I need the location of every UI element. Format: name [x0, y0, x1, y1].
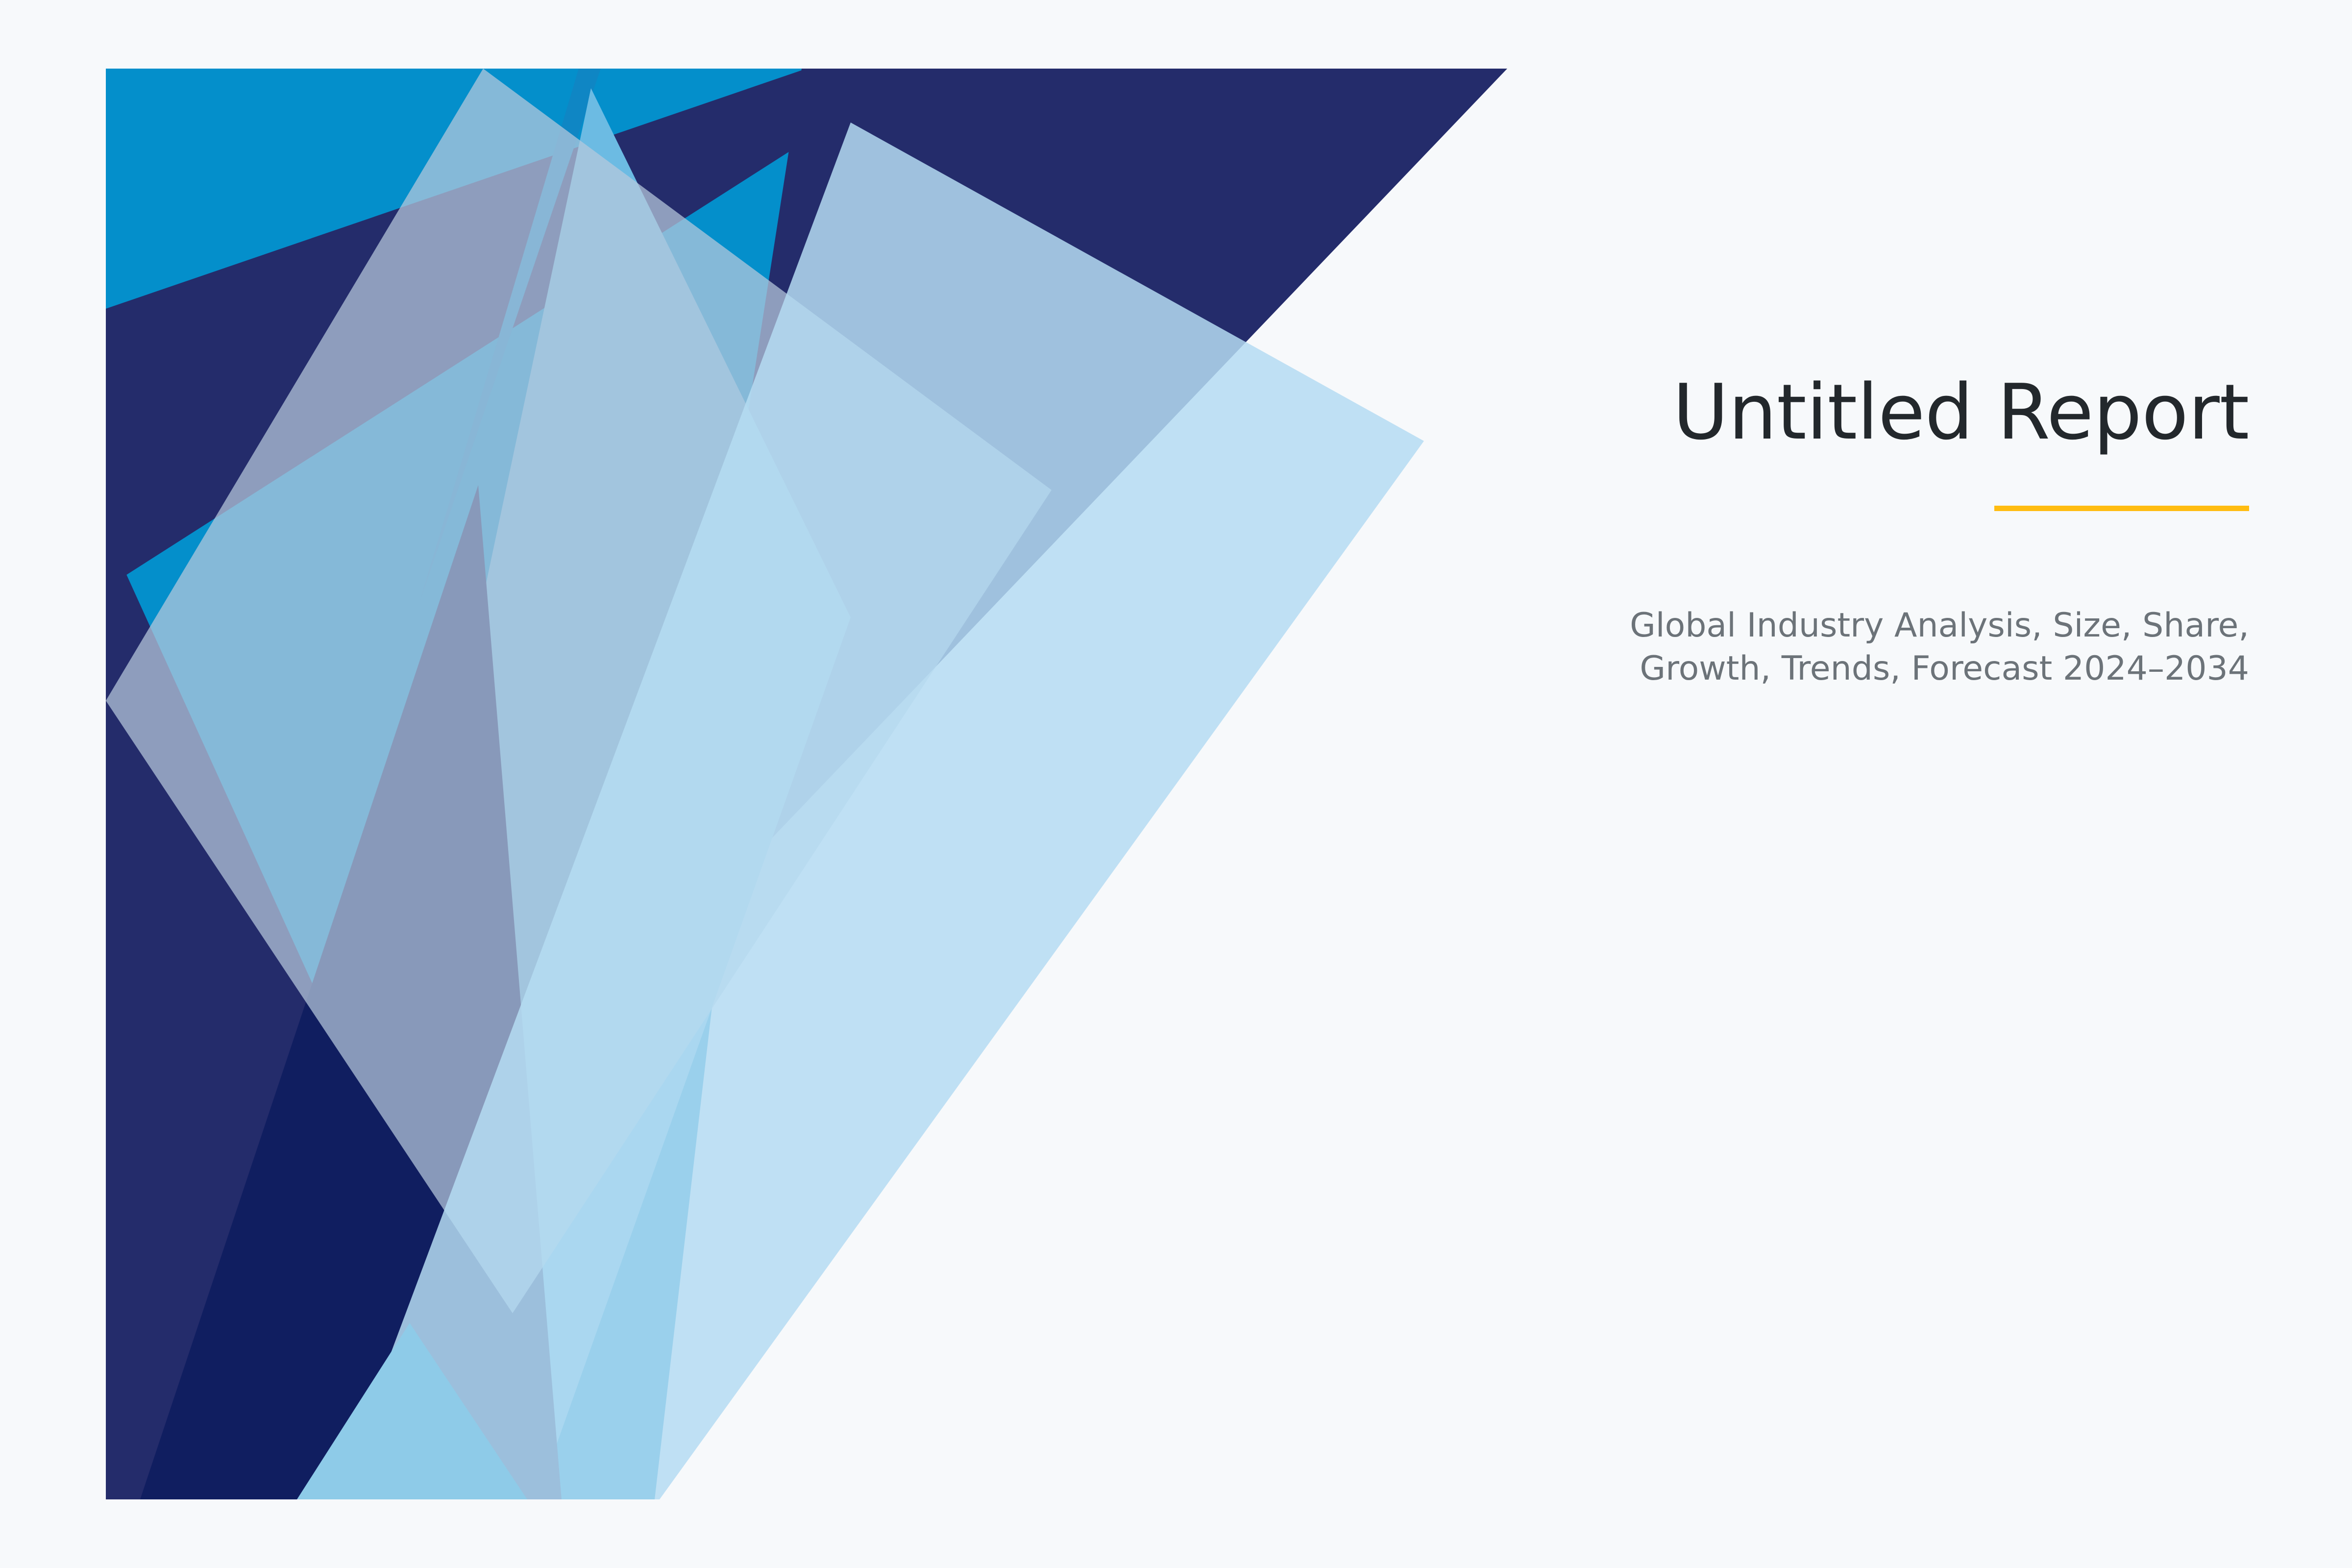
- cover-artwork-svg: [106, 69, 1507, 1499]
- page-subtitle: Global Industry Analysis, Size, Share, G…: [1568, 604, 2249, 691]
- cover-artwork: [106, 69, 1507, 1499]
- cover-text-block: Untitled Report Global Industry Analysis…: [1568, 372, 2249, 691]
- title-accent-rule: [1994, 506, 2249, 511]
- report-cover-page: Untitled Report Global Industry Analysis…: [0, 0, 2352, 1568]
- page-title: Untitled Report: [1568, 372, 2249, 453]
